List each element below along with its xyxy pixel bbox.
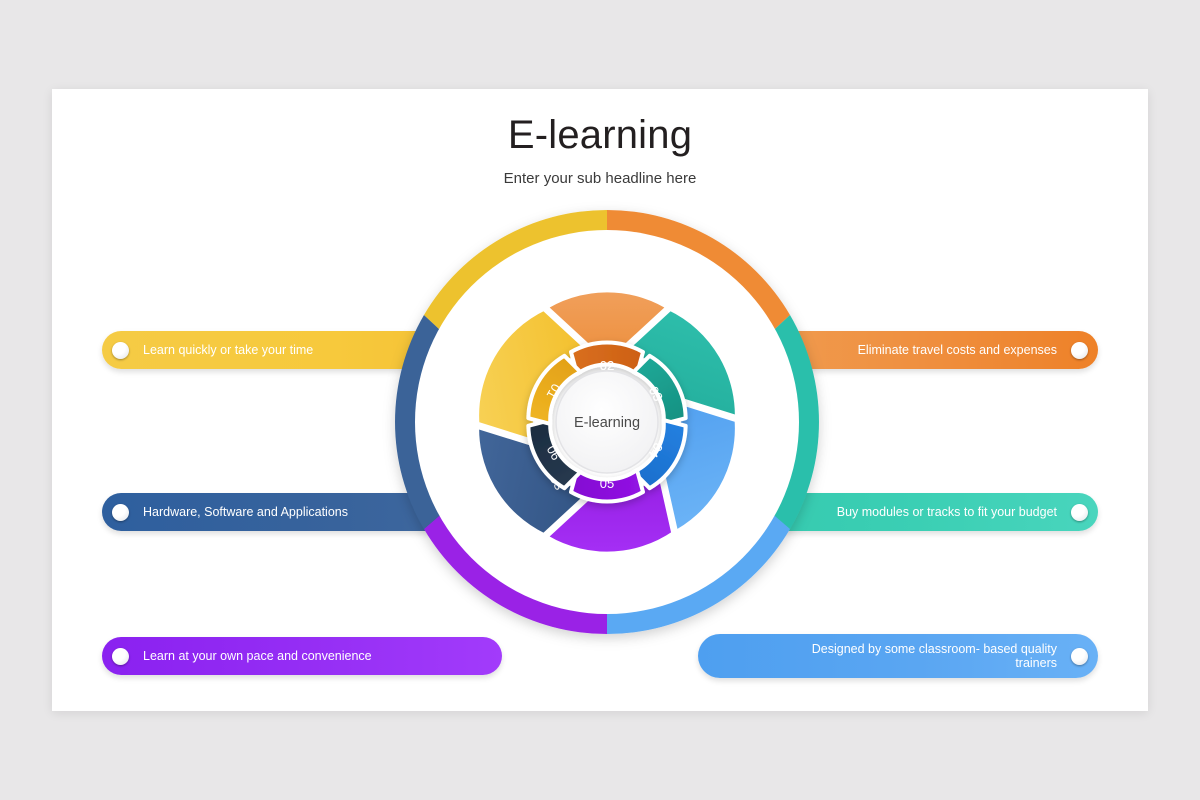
inner-seg-02[interactable]: 02 <box>571 343 643 374</box>
callout-label-04-line2: trainers <box>812 656 1057 670</box>
page-title: E-learning <box>52 113 1148 158</box>
core-label: E-learning <box>574 415 640 431</box>
callout-label-04-line1: Designed by some classroom- based qualit… <box>812 642 1057 656</box>
bullet-dot-icon <box>112 504 129 521</box>
bullet-dot-icon <box>1071 342 1088 359</box>
bullet-dot-icon <box>112 648 129 665</box>
callout-label-02: Eliminate travel costs and expenses <box>858 343 1057 357</box>
segmented-wheel: Immediate Savings Flexible Options Certi… <box>387 202 827 662</box>
callout-label-01: Learn quickly or take your time <box>143 343 313 357</box>
callout-label-03: Buy modules or tracks to fit your budget <box>837 505 1057 519</box>
page-subtitle: Enter your sub headline here <box>52 170 1148 187</box>
petal-label-05-line1: Available <box>578 552 637 568</box>
petal-label-05-line2: 24/7 <box>593 574 621 590</box>
bullet-dot-icon <box>112 342 129 359</box>
slide-canvas: Learn quickly or take your time Hardware… <box>52 89 1148 711</box>
wheel-core[interactable]: E-learning <box>556 371 658 473</box>
callout-label-05: Learn at your own pace and convenience <box>143 649 372 663</box>
bullet-dot-icon <box>1071 648 1088 665</box>
callout-label-04: Designed by some classroom- based qualit… <box>812 642 1057 670</box>
callout-label-06: Hardware, Software and Applications <box>143 505 348 519</box>
wheel-svg: Immediate Savings Flexible Options Certi… <box>387 202 827 662</box>
bullet-dot-icon <box>1071 504 1088 521</box>
inner-number-05: 05 <box>600 476 614 491</box>
